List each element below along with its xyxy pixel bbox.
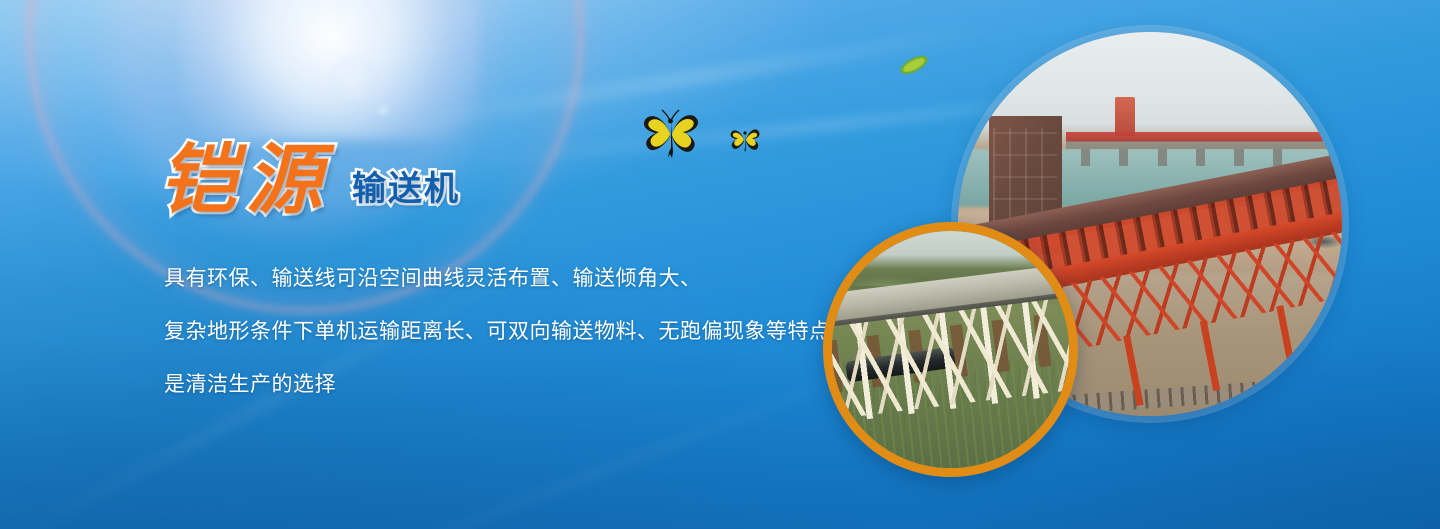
lens-flare-circle-icon [328,55,380,111]
jetty-pier [1158,149,1167,166]
sun-flare-icon [180,0,480,140]
light-streak [383,22,998,135]
photo-circle-small [823,222,1078,477]
green-leaf-icon [897,52,931,78]
lens-flare-dot-icon [378,105,388,115]
hero-banner: 铠源 输送机 具有环保、输送线可沿空间曲线灵活布置、输送倾角大、 复杂地形条件下… [0,0,1440,529]
butterfly-small-icon [728,126,762,154]
brand-name: 铠源 [160,142,332,218]
photo-small-image [832,231,1069,468]
banner-headline: 铠源 输送机 [160,142,460,218]
jetty-pier [1119,149,1128,166]
butterfly-large-icon [640,108,702,160]
far-shiploader [1115,97,1134,135]
jetty-pier [1081,149,1090,166]
product-name: 输送机 [352,172,460,206]
